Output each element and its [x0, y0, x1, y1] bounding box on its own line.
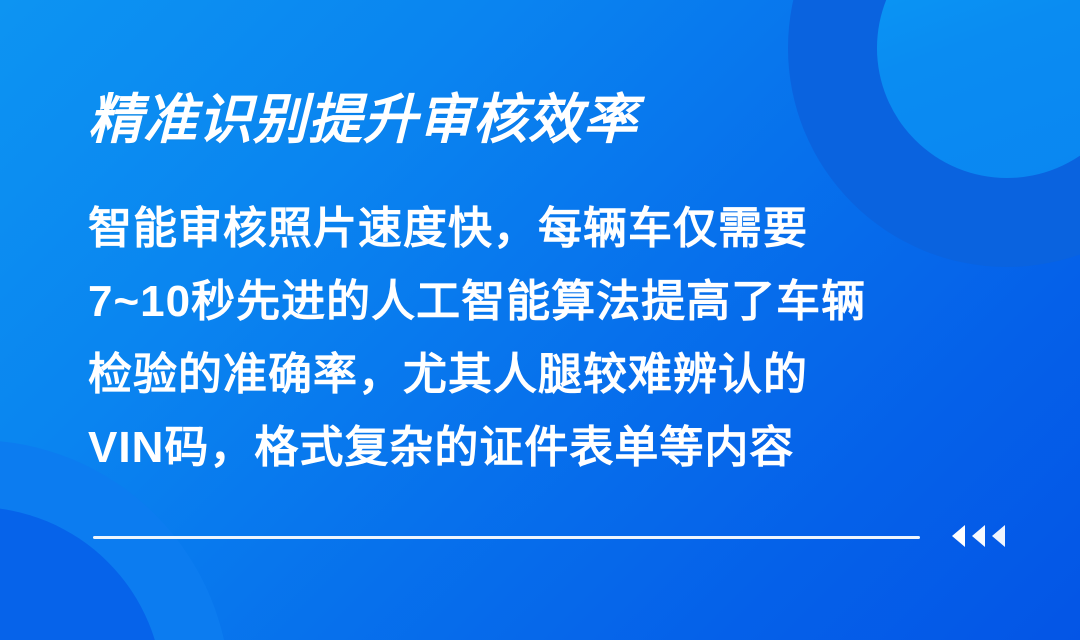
- body-paragraph: 智能审核照片速度快，每辆车仅需要 7~10秒先进的人工智能算法提高了车辆 检验的…: [88, 192, 968, 484]
- triangle-left-icon: [972, 525, 985, 547]
- body-line: 7~10秒先进的人工智能算法提高了车辆: [88, 265, 968, 338]
- promo-slide: 精准识别提升审核效率 智能审核照片速度快，每辆车仅需要 7~10秒先进的人工智能…: [0, 0, 1080, 640]
- triangle-left-icon: [952, 525, 965, 547]
- triangle-left-icon: [992, 525, 1005, 547]
- footer-divider-rule: [93, 536, 920, 539]
- slide-content: 精准识别提升审核效率 智能审核照片速度快，每辆车仅需要 7~10秒先进的人工智能…: [0, 0, 1080, 640]
- body-line: VIN码，格式复杂的证件表单等内容: [88, 411, 968, 484]
- next-slide-arrows[interactable]: [952, 525, 1005, 547]
- body-line: 智能审核照片速度快，每辆车仅需要: [88, 192, 968, 265]
- body-line: 检验的准确率，尤其人腿较难辨认的: [88, 338, 968, 411]
- headline-title: 精准识别提升审核效率: [88, 88, 638, 152]
